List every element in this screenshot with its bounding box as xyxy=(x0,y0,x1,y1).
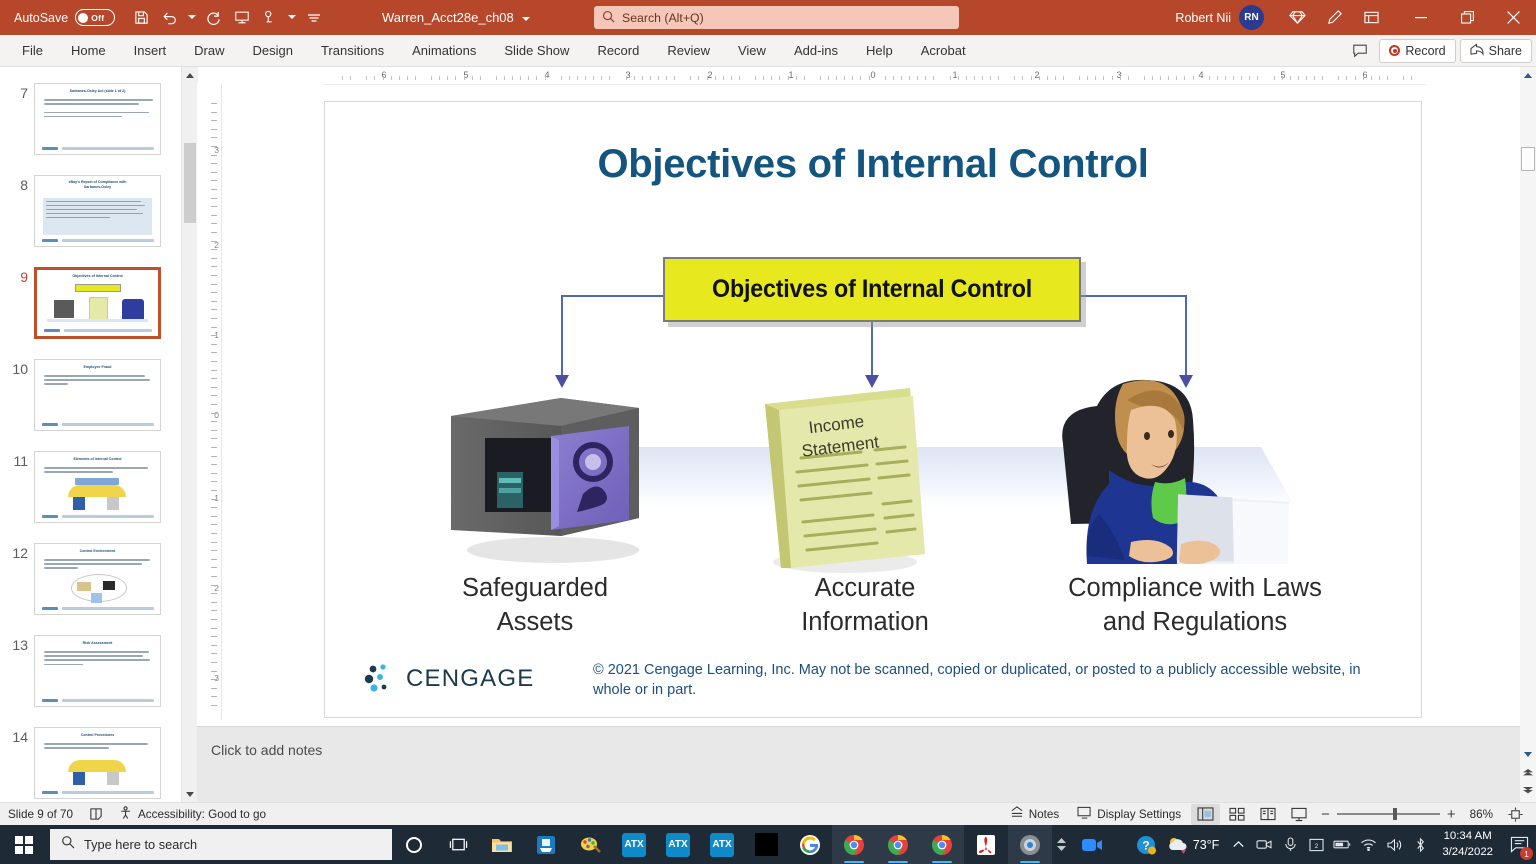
thumbnail-body xyxy=(44,651,153,668)
thumbnail-figure2-icon xyxy=(107,772,119,785)
tab-insert[interactable]: Insert xyxy=(120,35,181,66)
clock[interactable]: 10:34 AM 3/24/2022 xyxy=(1433,829,1502,860)
thumbnail-canvas[interactable]: Employee Fraud xyxy=(34,359,161,431)
ruler-tick-label: 0 xyxy=(214,410,219,420)
status-bar-right: Notes Display Settings xyxy=(1002,803,1530,826)
thumbnail-number: 7 xyxy=(0,83,34,101)
ruler-tick-label: 0 xyxy=(870,70,875,80)
slide-counter[interactable]: Slide 9 of 70 xyxy=(0,803,81,826)
zoom-icon[interactable] xyxy=(1070,825,1114,864)
thumbnail-figure-icon xyxy=(73,772,85,785)
thumbnail-cycle-item2 xyxy=(103,581,115,590)
accessibility-icon xyxy=(119,806,133,823)
cengage-wordmark: CENGAGE xyxy=(406,665,534,693)
slide-sorter-view-button[interactable] xyxy=(1222,804,1251,825)
scroll-down-arrow-icon[interactable] xyxy=(182,786,198,802)
tab-draw[interactable]: Draw xyxy=(180,35,238,66)
spell-check-icon[interactable] xyxy=(81,803,111,826)
display-settings-label: Display Settings xyxy=(1097,808,1181,821)
ruler-tick-label: 2 xyxy=(707,70,712,80)
bluetooth-icon[interactable] xyxy=(1407,825,1433,864)
thumbnail-footer xyxy=(42,239,154,243)
connector-center-vertical xyxy=(871,322,873,377)
clock-time: 10:34 AM xyxy=(1442,829,1493,844)
zoom-track[interactable] xyxy=(1337,813,1440,815)
fit-slide-to-window-icon[interactable] xyxy=(1501,804,1530,825)
notes-icon xyxy=(1010,806,1024,822)
google-icon[interactable] xyxy=(788,825,832,864)
start-from-beginning-icon[interactable] xyxy=(229,5,254,30)
title-bar: AutoSave Off xyxy=(0,0,1536,35)
battery-icon[interactable] xyxy=(1329,825,1355,864)
thumbnail-body xyxy=(44,99,153,120)
display-settings-button[interactable]: Display Settings xyxy=(1069,803,1189,826)
notes-placeholder[interactable]: Click to add notes xyxy=(211,742,322,758)
camera-device-icon[interactable] xyxy=(1251,825,1277,864)
record-button-label: Record xyxy=(1405,44,1445,58)
status-bar: Slide 9 of 70 Accessibility: Good to go xyxy=(0,802,1536,825)
tab-file[interactable]: File xyxy=(8,35,57,66)
ribbon-display-options-icon[interactable] xyxy=(1354,2,1388,34)
restore-icon[interactable] xyxy=(1444,0,1490,35)
safe-icon xyxy=(443,390,663,570)
tab-design[interactable]: Design xyxy=(239,35,307,66)
terminal-icon[interactable] xyxy=(744,825,788,864)
share-button-label: Share xyxy=(1489,44,1522,58)
undo-icon[interactable] xyxy=(157,5,182,30)
slide-title[interactable]: Objectives of Internal Control xyxy=(325,142,1421,187)
zoom-handle[interactable] xyxy=(1393,808,1397,820)
ribbon-tab-bar: File Home Insert Draw Design Transitions… xyxy=(0,35,1536,66)
thumbnail-document-icon xyxy=(89,297,108,321)
thumbnail-umbrella-icon xyxy=(68,485,126,497)
wifi-icon[interactable] xyxy=(1355,825,1381,864)
powerpoint-window: AutoSave Off xyxy=(0,0,1536,864)
thumbnail-canvas[interactable]: Control Environment xyxy=(34,543,161,615)
taskbar-search-icon xyxy=(61,835,75,854)
tab-home[interactable]: Home xyxy=(57,35,120,66)
zoom-slider[interactable]: − + xyxy=(1321,806,1456,823)
branch-label-1-line1: Safeguarded xyxy=(365,572,705,606)
redo-icon[interactable] xyxy=(201,5,226,30)
autosave-state-label: Off xyxy=(91,13,104,23)
normal-view-button[interactable] xyxy=(1191,804,1220,825)
weather-icon[interactable] xyxy=(1163,825,1193,864)
thumbnail-body xyxy=(44,375,153,388)
thumbnail-floor xyxy=(47,319,148,322)
notes-pane[interactable]: Click to add notes xyxy=(197,726,1520,802)
vertical-ruler[interactable]: 3 2 1 0 1 2 3 xyxy=(200,85,222,720)
tab-acrobat[interactable]: Acrobat xyxy=(907,35,980,66)
file-explorer-icon[interactable] xyxy=(480,825,524,864)
connector-right-vertical xyxy=(1185,295,1187,377)
thumbnail-person-icon xyxy=(122,299,144,319)
branch-label-3: Compliance with Laws and Regulations xyxy=(985,572,1405,639)
account-name: Robert Nii xyxy=(1175,11,1231,25)
volume-icon[interactable] xyxy=(1381,825,1407,864)
onedrive-sync-icon[interactable]: 2 xyxy=(1303,825,1329,864)
atx-app-3-icon[interactable]: ATX xyxy=(700,825,744,864)
previous-slide-icon[interactable] xyxy=(1520,764,1536,780)
thumbnail-slide-14[interactable]: 14 Control Procedures xyxy=(0,727,197,799)
connector-left-vertical xyxy=(561,295,563,377)
temperature-label[interactable]: 73°F xyxy=(1193,838,1226,852)
touch-mode-chevron-down-icon[interactable] xyxy=(285,5,298,30)
tab-record[interactable]: Record xyxy=(583,35,653,66)
thumbnail-safe-icon xyxy=(54,300,74,318)
thumbnail-umbrella-icon xyxy=(68,760,126,772)
canvas-scroll-up-icon[interactable] xyxy=(1520,67,1536,83)
thumbnail-title: Elements of Internal Control xyxy=(73,457,121,461)
thumbnail-number: 14 xyxy=(0,727,34,745)
ruler-tick-label: 1 xyxy=(788,70,793,80)
ruler-tick-label: 3 xyxy=(214,673,219,683)
display-settings-icon xyxy=(1077,806,1092,822)
document-title[interactable]: Warren_Acct28e_ch08 xyxy=(382,0,530,35)
thumbnail-slide-13[interactable]: 13 Risk Assessment xyxy=(0,635,197,707)
thumbnail-title: eBay's Report of Compliance with Sarbane… xyxy=(61,180,135,190)
thumbnail-title: Employee Fraud xyxy=(84,365,112,369)
horizontal-ruler[interactable]: 6 5 4 3 2 1 0 1 2 3 4 5 6 xyxy=(322,67,1426,85)
tab-animations[interactable]: Animations xyxy=(398,35,490,66)
account-button[interactable]: Robert Nii RN xyxy=(1175,0,1264,35)
thumbnail-figure-icon xyxy=(73,497,85,510)
thumbnail-canvas[interactable]: Control Procedures xyxy=(34,727,161,799)
thumbnail-body xyxy=(44,467,153,475)
canvas-scrollbar-thumb[interactable] xyxy=(1521,147,1535,171)
thumbnail-number: 11 xyxy=(0,451,34,469)
share-icon xyxy=(1470,43,1484,59)
microphone-icon[interactable] xyxy=(1277,825,1303,864)
thumbnail-number: 12 xyxy=(0,543,34,561)
cengage-mark-icon xyxy=(363,663,397,695)
clock-date: 3/24/2022 xyxy=(1442,845,1493,860)
show-hidden-icons-chevron-up-icon[interactable] xyxy=(1225,825,1251,864)
thumbnail-canvas[interactable]: eBay's Report of Compliance with Sarbane… xyxy=(34,175,161,247)
branch-label-2-line1: Accurate xyxy=(715,572,1015,606)
thumbnail-number: 13 xyxy=(0,635,34,653)
thumbnail-title: Control Environment xyxy=(80,549,116,553)
cortana-icon[interactable] xyxy=(392,825,436,864)
accessibility-label: Accessibility: Good to go xyxy=(138,808,266,821)
thumbnail-footer xyxy=(42,791,154,795)
chrome-profile-2-icon[interactable] xyxy=(876,825,920,864)
thumbnail-title: Risk Assessment xyxy=(83,641,113,645)
search-input[interactable]: Search (Alt+Q) xyxy=(594,6,959,29)
branch-label-3-line2: and Regulations xyxy=(985,606,1405,640)
zoom-out-button[interactable]: − xyxy=(1321,806,1330,823)
diamond-premium-icon[interactable] xyxy=(1280,2,1314,34)
thumbnail-canvas-selected[interactable]: Objectives of Internal Control xyxy=(34,267,161,339)
chrome-profile-1-icon[interactable] xyxy=(832,825,876,864)
branch-label-2-line2: Information xyxy=(715,606,1015,640)
copyright-text: © 2021 Cengage Learning, Inc. May not be… xyxy=(593,660,1383,701)
canvas-scrollbar[interactable] xyxy=(1520,67,1536,802)
system-tray: ? 73°F xyxy=(1129,825,1536,864)
chrome-profile-3-icon[interactable] xyxy=(920,825,964,864)
zoom-in-button[interactable]: + xyxy=(1447,806,1456,823)
undo-dropdown-chevron-down-icon[interactable] xyxy=(185,5,198,30)
ruler-tick-label: 4 xyxy=(1198,70,1203,80)
record-button[interactable]: Record xyxy=(1379,39,1455,63)
quick-access-toolbar xyxy=(129,5,326,30)
tab-add-ins[interactable]: Add-ins xyxy=(780,35,852,66)
thumbnail-number: 10 xyxy=(0,359,34,377)
thumbnail-number: 8 xyxy=(0,175,34,193)
reading-view-button[interactable] xyxy=(1253,804,1282,825)
touch-mode-icon[interactable] xyxy=(257,5,282,30)
share-button[interactable]: Share xyxy=(1460,39,1532,63)
svg-text:2: 2 xyxy=(1315,842,1319,849)
task-view-icon[interactable] xyxy=(436,825,480,864)
income-statement-document-icon: Income Statement xyxy=(745,382,945,582)
arrow-left-icon xyxy=(555,375,569,388)
canvas-scroll-down-icon[interactable] xyxy=(1520,746,1536,762)
tab-review[interactable]: Review xyxy=(653,35,724,66)
thumbnail-body xyxy=(44,559,153,572)
document-title-text: Warren_Acct28e_ch08 xyxy=(382,10,514,25)
businesswoman-reading-report-icon xyxy=(1031,374,1311,564)
thumbnail-number: 9 xyxy=(0,267,34,285)
thumbnail-body xyxy=(44,743,153,751)
thumbnail-title: Sarbanes-Oxley Act (slide 1 of 2) xyxy=(70,89,126,93)
thumbnail-footer xyxy=(42,607,154,611)
thumbnail-footer xyxy=(42,423,154,427)
thumbnail-slide-12[interactable]: 12 Control Environment xyxy=(0,543,197,615)
connector-right-horizontal xyxy=(1081,295,1187,297)
minimize-icon[interactable] xyxy=(1398,0,1444,35)
autosave-toggle[interactable]: AutoSave Off xyxy=(14,9,115,26)
close-icon[interactable] xyxy=(1490,0,1536,35)
document-title-chevron-down-icon[interactable] xyxy=(522,10,530,25)
tab-transitions[interactable]: Transitions xyxy=(307,35,398,66)
branch-label-1-line2: Assets xyxy=(365,606,705,640)
cengage-logo: CENGAGE xyxy=(363,663,534,695)
windows-taskbar: Type here to search xyxy=(0,825,1536,864)
branch-label-2: Accurate Information xyxy=(715,572,1015,639)
search-icon xyxy=(602,10,615,26)
autosave-knob xyxy=(78,13,88,23)
taskbar-overflow-chevron-icon[interactable] xyxy=(1052,825,1070,864)
ribbon-right-actions: Record Share xyxy=(1345,35,1532,66)
slide-editing-surface[interactable]: Objectives of Internal Control Objective… xyxy=(324,101,1422,718)
avatar[interactable]: RN xyxy=(1239,5,1264,30)
thumbnail-cycle-item1 xyxy=(77,582,91,591)
thumbnail-canvas[interactable]: Elements of Internal Control xyxy=(34,451,161,523)
thumbnail-scrollbar[interactable] xyxy=(181,67,197,802)
notes-button-label: Notes xyxy=(1029,808,1060,821)
thumbnail-banner xyxy=(75,478,119,485)
tab-view[interactable]: View xyxy=(724,35,780,66)
thumbnail-footer xyxy=(44,329,152,333)
thumbnail-slide-10[interactable]: 10 Employee Fraud xyxy=(0,359,197,431)
window-controls xyxy=(1398,0,1536,35)
search-placeholder: Search (Alt+Q) xyxy=(622,11,704,25)
thumbnail-slide-9[interactable]: 9 Objectives of Internal Control xyxy=(0,267,197,339)
thumbnail-cycle-item3 xyxy=(91,593,102,603)
notification-count-badge: 1 xyxy=(1520,847,1533,860)
branch-label-1: Safeguarded Assets xyxy=(365,572,705,639)
thumbnail-footer xyxy=(42,699,154,703)
scrollbar-thumb[interactable] xyxy=(184,143,196,223)
autosave-switch[interactable]: Off xyxy=(75,9,115,26)
adobe-acrobat-icon[interactable] xyxy=(964,825,1008,864)
powerpoint-icon[interactable] xyxy=(1008,825,1052,864)
connector-left-horizontal xyxy=(561,295,663,297)
branch-label-3-line1: Compliance with Laws xyxy=(985,572,1405,606)
help-support-icon[interactable]: ? xyxy=(1129,825,1163,864)
start-button-icon[interactable] xyxy=(0,825,48,864)
slide-thumbnail-pane[interactable]: 7 Sarbanes-Oxley Act (slide 1 of 2) 8 eB… xyxy=(0,67,197,802)
thumbnail-title: Control Procedures xyxy=(81,733,115,737)
notification-center-icon[interactable]: 1 xyxy=(1502,825,1536,864)
autosave-label: AutoSave xyxy=(14,11,68,25)
atx-app-2-icon[interactable]: ATX xyxy=(656,825,700,864)
save-icon[interactable] xyxy=(129,5,154,30)
thumbnail-footer xyxy=(42,147,154,151)
taskbar-search-placeholder: Type here to search xyxy=(84,837,197,852)
notes-button[interactable]: Notes xyxy=(1002,803,1068,826)
zoom-level[interactable]: 86% xyxy=(1464,803,1499,826)
thumbnail-slide-11[interactable]: 11 Elements of Internal Control xyxy=(0,451,197,523)
scroll-up-arrow-icon[interactable] xyxy=(182,67,198,83)
thumbnail-slide-7[interactable]: 7 Sarbanes-Oxley Act (slide 1 of 2) xyxy=(0,83,197,155)
thumbnail-canvas[interactable]: Risk Assessment xyxy=(34,635,161,707)
comments-icon[interactable] xyxy=(1345,39,1375,63)
center-box-label: Objectives of Internal Control xyxy=(712,275,1032,304)
atx-app-1-icon[interactable]: ATX xyxy=(612,825,656,864)
taskbar-search-input[interactable]: Type here to search xyxy=(50,829,392,860)
title-bar-icons xyxy=(1280,0,1388,35)
center-objectives-box[interactable]: Objectives of Internal Control xyxy=(663,257,1081,322)
thumbnail-figure2-icon xyxy=(107,497,119,510)
ink-pen-icon[interactable] xyxy=(1317,2,1351,34)
tab-slide-show[interactable]: Slide Show xyxy=(490,35,583,66)
next-slide-icon[interactable] xyxy=(1520,782,1536,798)
paint-app-icon[interactable] xyxy=(568,825,612,864)
thumbnail-body xyxy=(46,201,149,220)
slide-canvas-area[interactable]: Objectives of Internal Control Objective… xyxy=(222,85,1506,722)
accessibility-status[interactable]: Accessibility: Good to go xyxy=(111,803,274,826)
tab-help[interactable]: Help xyxy=(852,35,907,66)
scanner-app-icon[interactable] xyxy=(524,825,568,864)
thumbnail-footer xyxy=(42,515,154,519)
customize-qat-icon[interactable] xyxy=(301,5,326,30)
thumbnail-slide-8[interactable]: 8 eBay's Report of Compliance with Sarba… xyxy=(0,175,197,247)
record-dot-icon xyxy=(1389,45,1400,56)
thumbnail-title: Objectives of Internal Control xyxy=(72,274,122,278)
slide-show-view-button[interactable] xyxy=(1284,804,1313,825)
thumbnail-center-box xyxy=(75,284,121,292)
thumbnail-canvas[interactable]: Sarbanes-Oxley Act (slide 1 of 2) xyxy=(34,83,161,155)
